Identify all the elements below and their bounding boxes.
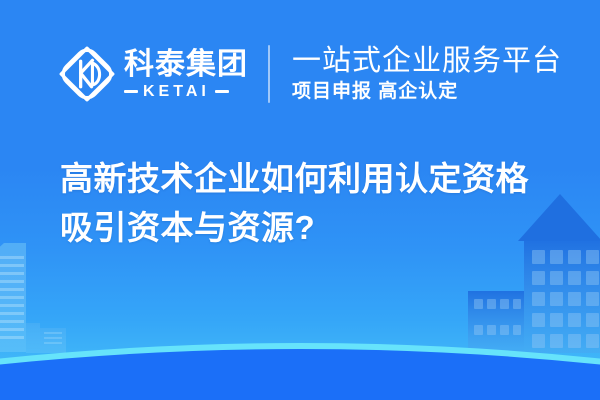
ketai-logo-icon: [58, 45, 116, 103]
logo-dash-right-icon: [215, 90, 229, 93]
slogan-main: 一站式企业服务平台: [292, 44, 562, 78]
office-block-right-icon: [468, 291, 524, 353]
logo-dash-left-icon: [124, 90, 138, 93]
slogan-sub: 项目申报 高企认定: [292, 80, 562, 104]
page-title: 高新技术企业如何利用认定资格吸引资本与资源?: [60, 154, 560, 252]
slogan-block: 一站式企业服务平台 项目申报 高企认定: [292, 44, 562, 104]
logo-name-cn: 科泰集团: [124, 49, 248, 81]
skyscraper-left-icon: [0, 243, 26, 352]
banner-graphic: 科泰集团 KETAI 一站式企业服务平台 项目申报 高企认定 高新技术企业如何利…: [0, 0, 600, 400]
logo-name-en: KETAI: [143, 84, 210, 100]
skyline-left-blocks: [26, 323, 66, 353]
header-divider: [268, 45, 270, 103]
brand-header: 科泰集团 KETAI 一站式企业服务平台 项目申报 高企认定: [0, 36, 600, 112]
ground-curve: [0, 343, 600, 400]
logo-name-en-row: KETAI: [124, 84, 248, 100]
logo-wordmark: 科泰集团 KETAI: [124, 49, 248, 100]
